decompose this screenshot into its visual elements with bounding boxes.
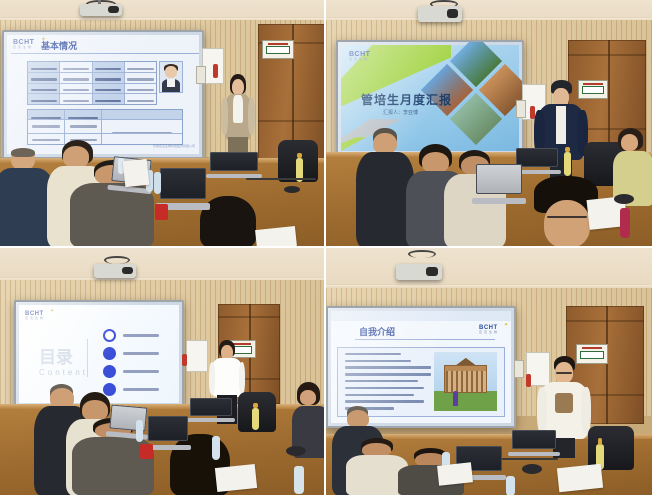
projector-cables [408,250,436,258]
presenter-laptop [516,148,558,174]
water-bottle [294,466,304,494]
projector [94,264,136,278]
photo-panel-top-left: BCHT百克生物 ✦ 基本情况 [0,0,326,248]
toc-item [103,365,159,378]
projector-cables [104,256,130,264]
papers [255,226,297,248]
title-rule [11,53,199,54]
attendee-laptop [148,416,188,450]
slide-footer: 长春百克生物科技股份有限公司 [153,144,195,148]
toc-item-label [123,334,159,337]
toc-item [103,347,159,360]
water-bottle [564,152,571,176]
slide-profile: BCHT百克生物 ✦ 基本情况 [7,35,199,154]
toc-title: 目录 Content [39,343,88,377]
fire-extinguisher [182,354,187,366]
bcht-logo: BCHT百克生物 ✦ [349,51,370,61]
bullet-icon [103,365,116,378]
glasses-icon [556,372,572,374]
bcht-logo: BCHT百克生物 ✦ [479,325,499,334]
water-bottle [136,420,143,442]
papers [437,462,473,485]
toc-item-label [123,388,159,391]
water-bottle [154,172,161,194]
water-bottle [212,436,220,460]
conference-microphone [614,194,634,204]
photo-collage: BCHT百克生物 ✦ 基本情况 [0,0,652,495]
slide-title: 自我介绍 [359,325,395,338]
red-cup [140,444,153,459]
red-cup [155,204,168,220]
bcht-logo: BCHT百克生物 ✦ [25,311,45,320]
photo-panel-bottom-left: BCHT百克生物 ✦ 目录 Content [0,248,326,495]
conference-microphone [284,186,300,193]
bcht-logo: BCHT百克生物 ✦ [13,39,34,49]
cover-title: 管培生月度汇报 [361,91,452,108]
wall-notice [262,40,294,59]
ceiling [326,248,652,288]
toc-item-label [123,370,159,373]
photo-panel-top-right: BCHT百克生物 ✦ 管培生月度汇报 汇报人：李亚博 [326,0,652,248]
cable [246,178,316,180]
bullet-icon [103,347,116,360]
projector [396,264,442,280]
slide-title: 基本情况 [41,39,77,52]
conference-microphone [286,446,306,456]
presenter-laptop [512,430,556,456]
profile-table [27,61,157,105]
wall-panel [196,66,206,84]
slide-toolbar [331,311,511,321]
fire-extinguisher [526,374,531,387]
toc-item-label [123,352,159,355]
toc-divider [87,339,88,377]
bullet-icon [103,329,116,342]
papers [123,159,150,187]
presenter-laptop [190,398,232,422]
projector [80,4,122,16]
papers [557,464,603,492]
flipchart [186,340,208,372]
water-bottle [506,476,515,495]
projector [418,6,462,22]
toc-item [103,329,159,342]
wall-panel [516,100,526,118]
cover-subtitle: 汇报人：李亚博 [383,109,418,116]
campus-building-photo [434,352,497,410]
attendee-laptop [476,164,522,204]
wall-panel [514,360,524,378]
photo-panel-bottom-right: 自我介绍 BCHT百克生物 ✦ [326,248,652,495]
conference-microphone [522,464,542,474]
title-rule [355,339,495,340]
presenter-laptop [210,152,258,178]
glasses-icon [547,216,587,218]
id-photo [159,61,183,93]
papers [215,464,257,492]
water-bottle [620,208,630,238]
water-bottle [252,408,259,430]
